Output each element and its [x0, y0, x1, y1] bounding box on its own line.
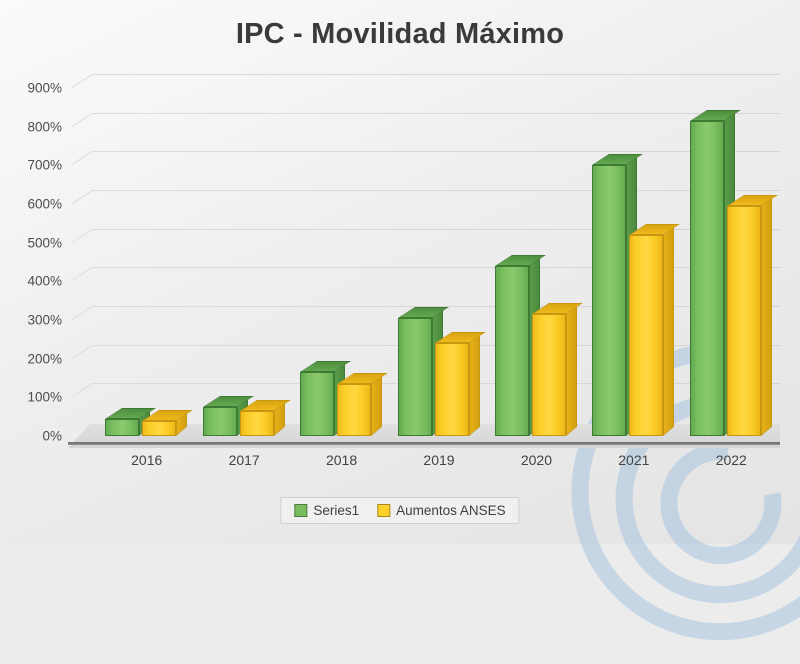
y-axis-tick-label: 700%: [27, 158, 62, 173]
legend-item-1[interactable]: Series1: [294, 503, 359, 518]
legend-label: Aumentos ANSES: [396, 503, 506, 518]
y-axis-tick-label: 0%: [42, 429, 62, 444]
x-axis-tick-label: 2018: [326, 452, 357, 468]
bar-side-face: [469, 334, 480, 436]
bar-front-face: [203, 407, 237, 436]
bar-group[interactable]: [203, 88, 274, 440]
legend-label: Series1: [313, 503, 359, 518]
bar-front-face: [337, 384, 371, 436]
x-axis-tick-label: 2017: [229, 452, 260, 468]
y-axis-tick-label: 600%: [27, 197, 62, 212]
bar-series-container: [68, 88, 780, 440]
y-axis-tick-label: 300%: [27, 313, 62, 328]
bar-series1-2018[interactable]: [300, 372, 334, 436]
bar-series1-2021[interactable]: [592, 165, 626, 436]
bar-front-face: [142, 421, 176, 436]
bar-group[interactable]: [105, 88, 176, 440]
bar-aumentos-anses-2019[interactable]: [435, 343, 469, 436]
bar-front-face: [495, 266, 529, 436]
bar-side-face: [371, 375, 382, 436]
bar-series1-2019[interactable]: [398, 318, 432, 436]
bar-aumentos-anses-2016[interactable]: [142, 421, 176, 436]
bar-front-face: [105, 419, 139, 436]
bar-front-face: [532, 314, 566, 436]
legend-swatch-icon: [377, 504, 390, 517]
gridline: [92, 74, 780, 75]
chart-title: IPC - Movilidad Máximo: [0, 18, 800, 51]
bar-front-face: [592, 165, 626, 436]
y-axis-tick-label: 800%: [27, 119, 62, 134]
bar-front-face: [398, 318, 432, 436]
bar-front-face: [240, 411, 274, 436]
bar-front-face: [300, 372, 334, 436]
bar-series1-2020[interactable]: [495, 266, 529, 436]
bar-series1-2016[interactable]: [105, 419, 139, 436]
chart-legend[interactable]: Series1Aumentos ANSES: [280, 497, 519, 524]
x-axis-tick-label: 2016: [131, 452, 162, 468]
bar-series1-2017[interactable]: [203, 407, 237, 436]
bar-group[interactable]: [690, 88, 761, 440]
bar-aumentos-anses-2017[interactable]: [240, 411, 274, 436]
x-axis-tick-label: 2021: [618, 452, 649, 468]
y-axis-tick-label: 900%: [27, 81, 62, 96]
y-axis-tick-label: 200%: [27, 351, 62, 366]
bar-front-face: [727, 206, 761, 436]
bar-side-face: [566, 305, 577, 436]
y-axis-tick-label: 100%: [27, 390, 62, 405]
legend-item-2[interactable]: Aumentos ANSES: [377, 503, 506, 518]
y-axis-labels: 0%100%200%300%400%500%600%700%800%900%: [0, 80, 62, 444]
bar-side-face: [663, 226, 674, 436]
bar-aumentos-anses-2022[interactable]: [727, 206, 761, 436]
bar-aumentos-anses-2018[interactable]: [337, 384, 371, 436]
bar-group[interactable]: [495, 88, 566, 440]
bar-side-face: [761, 197, 772, 436]
chart-canvas: IPC - Movilidad Máximo 0%100%200%300%400…: [0, 0, 800, 544]
bar-front-face: [690, 121, 724, 436]
bar-aumentos-anses-2021[interactable]: [629, 235, 663, 436]
x-axis-tick-label: 2020: [521, 452, 552, 468]
x-axis-labels: 2016201720182019202020212022: [68, 452, 780, 476]
bar-group[interactable]: [300, 88, 371, 440]
x-axis-tick-label: 2019: [423, 452, 454, 468]
y-axis-tick-label: 400%: [27, 274, 62, 289]
bar-aumentos-anses-2020[interactable]: [532, 314, 566, 436]
y-axis-tick-label: 500%: [27, 235, 62, 250]
bar-group[interactable]: [398, 88, 469, 440]
legend-swatch-icon: [294, 504, 307, 517]
bar-front-face: [629, 235, 663, 436]
bar-series1-2022[interactable]: [690, 121, 724, 436]
bar-front-face: [435, 343, 469, 436]
x-axis-tick-label: 2022: [716, 452, 747, 468]
bar-group[interactable]: [592, 88, 663, 440]
axis-baseline: [68, 442, 780, 445]
